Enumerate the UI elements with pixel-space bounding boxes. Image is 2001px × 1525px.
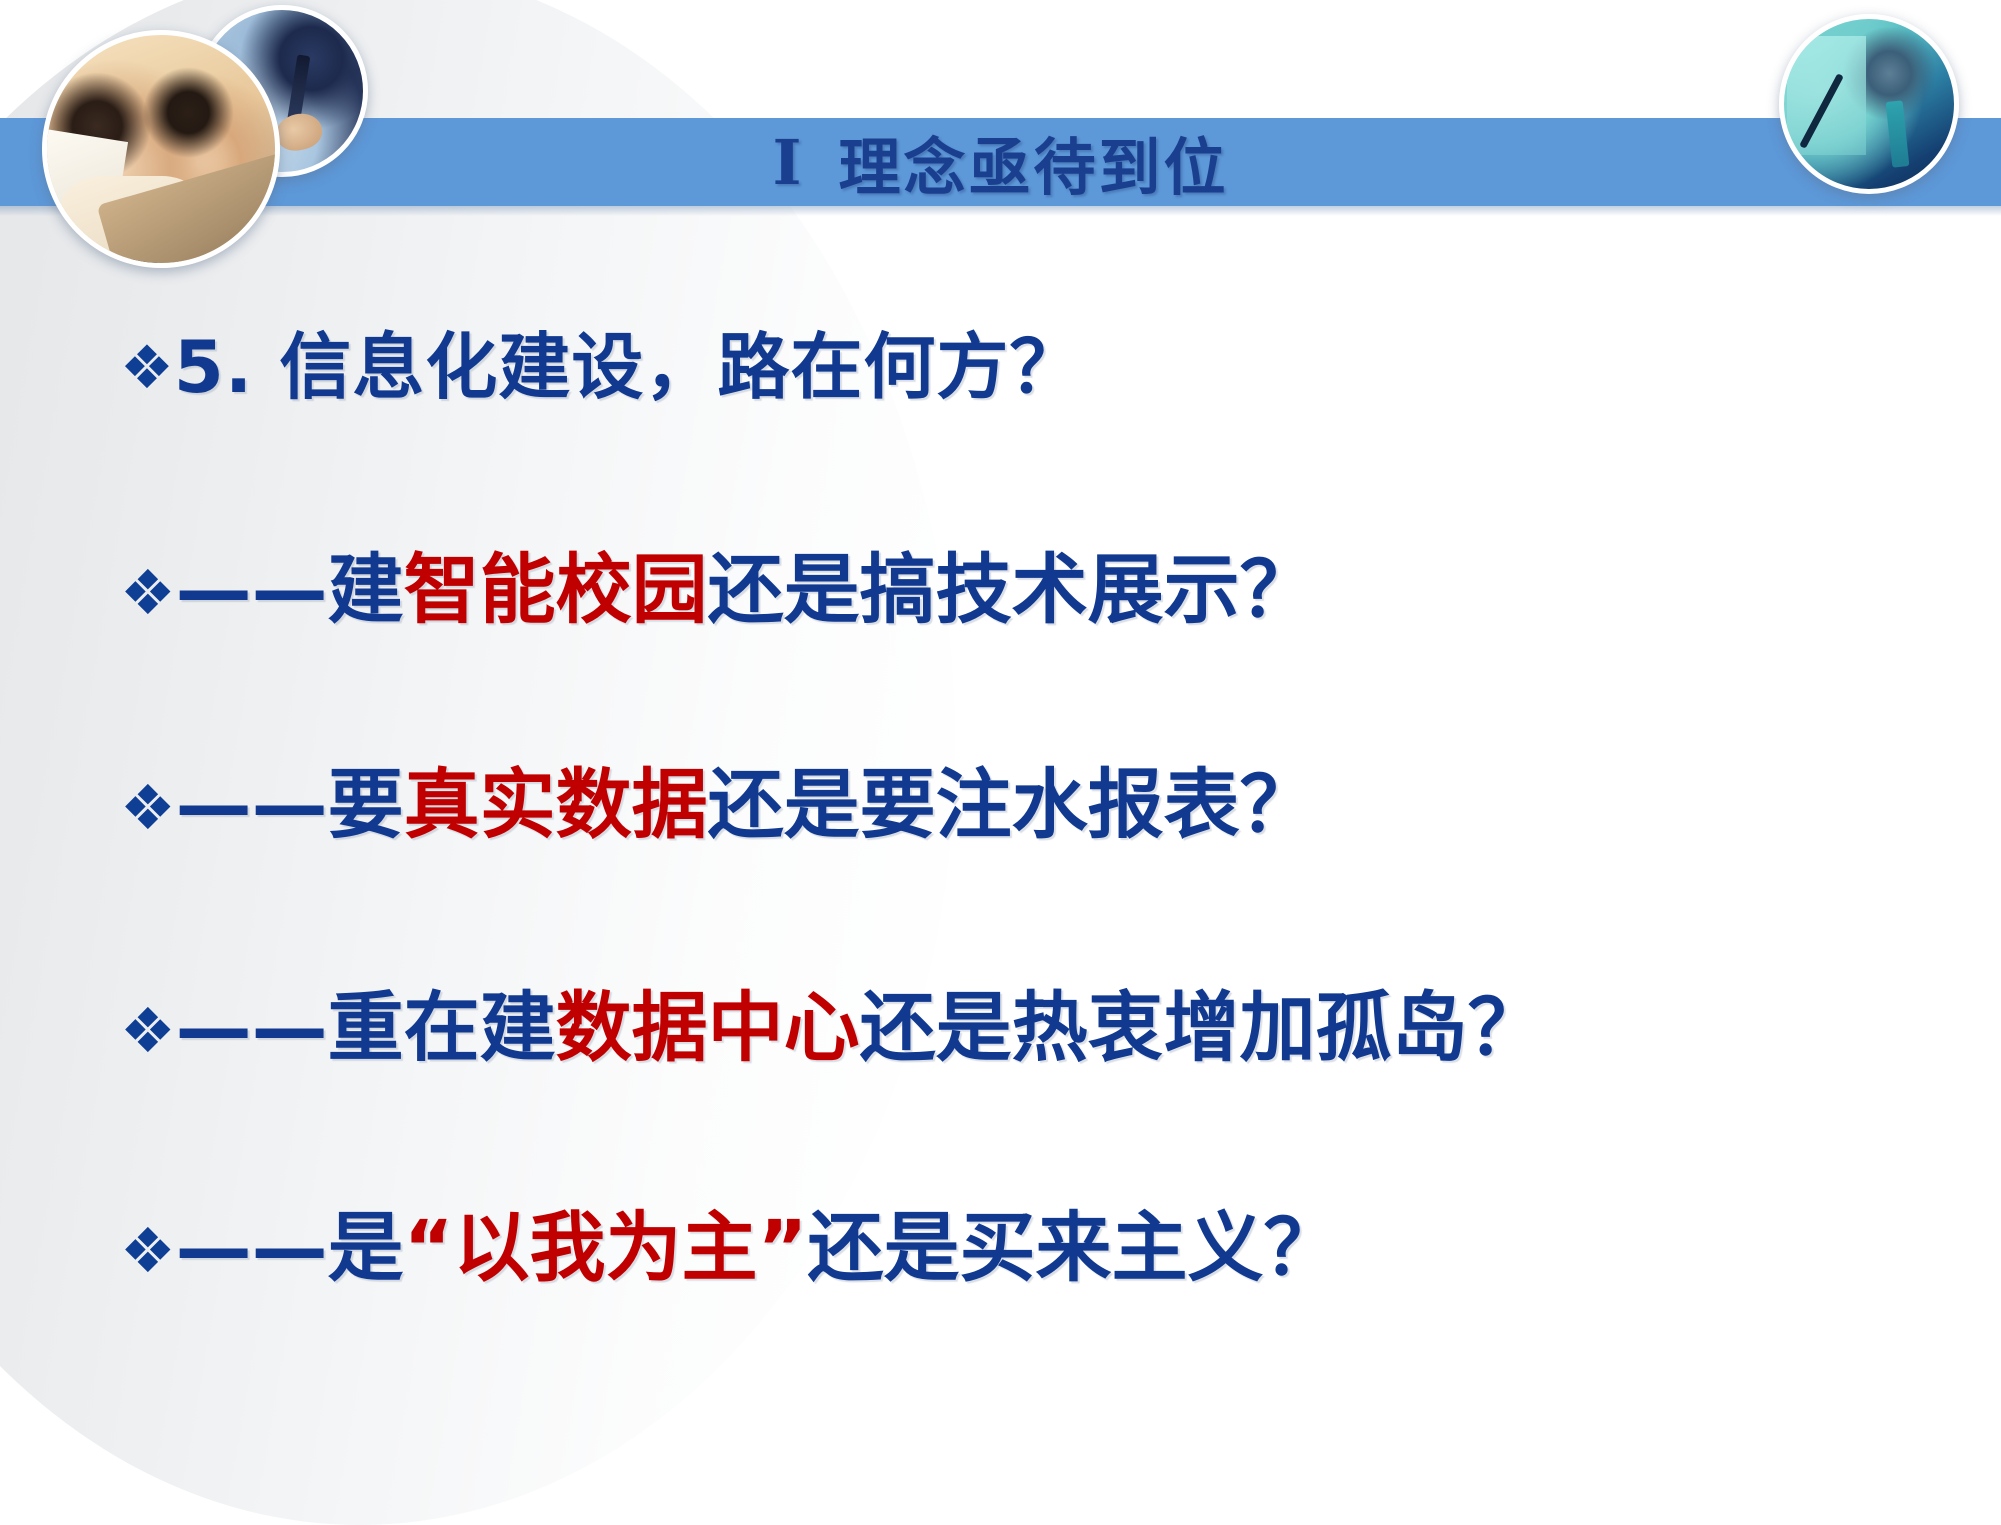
text-run-navy: ——建: [176, 545, 404, 634]
text-run-red: 真实数据: [404, 760, 708, 849]
bullet-item-3: ❖ ——重在建数据中心还是热衷增加孤岛？: [120, 988, 1544, 1068]
diamond-bullet-icon: ❖: [120, 1000, 176, 1062]
bullet-text-1: ——建智能校园还是搞技术展示？: [176, 550, 1316, 630]
text-run-navy: ——是: [176, 1203, 404, 1292]
diamond-bullet-icon: ❖: [120, 777, 176, 839]
bullet-item-2: ❖ ——要真实数据还是要注水报表？: [120, 765, 1316, 845]
text-run-navy: 5. 信息化建设，路在何方？: [174, 325, 1083, 409]
bullet-item-4: ❖ ——是“以我为主”还是买来主义？: [120, 1208, 1340, 1288]
bullet-text-4: ——是“以我为主”还是买来主义？: [176, 1208, 1340, 1288]
text-run-navy: 还是搞技术展示？: [708, 545, 1316, 634]
text-run-red: 智能校园: [404, 545, 708, 634]
text-run-navy: 还是要注水报表？: [708, 760, 1316, 849]
slide-body: ❖ 5. 信息化建设，路在何方？ ❖ ——建智能校园还是搞技术展示？ ❖ ——要…: [0, 0, 2001, 1501]
diamond-bullet-icon: ❖: [120, 338, 174, 398]
bullet-text-0: 5. 信息化建设，路在何方？: [174, 330, 1083, 406]
text-run-navy: 还是热衷增加孤岛？: [860, 983, 1544, 1072]
bullet-item-1: ❖ ——建智能校园还是搞技术展示？: [120, 550, 1316, 630]
bullet-item-0: ❖ 5. 信息化建设，路在何方？: [120, 330, 1082, 406]
text-run-navy: 还是买来主义？: [808, 1203, 1340, 1292]
bullet-text-2: ——要真实数据还是要注水报表？: [176, 765, 1316, 845]
text-run-navy: ——要: [176, 760, 404, 849]
text-run-navy: ——重在建: [176, 983, 556, 1072]
text-run-red: 数据中心: [556, 983, 860, 1072]
diamond-bullet-icon: ❖: [120, 562, 176, 624]
text-run-red: “以我为主”: [404, 1203, 808, 1292]
bullet-text-3: ——重在建数据中心还是热衷增加孤岛？: [176, 988, 1544, 1068]
diamond-bullet-icon: ❖: [120, 1220, 176, 1282]
